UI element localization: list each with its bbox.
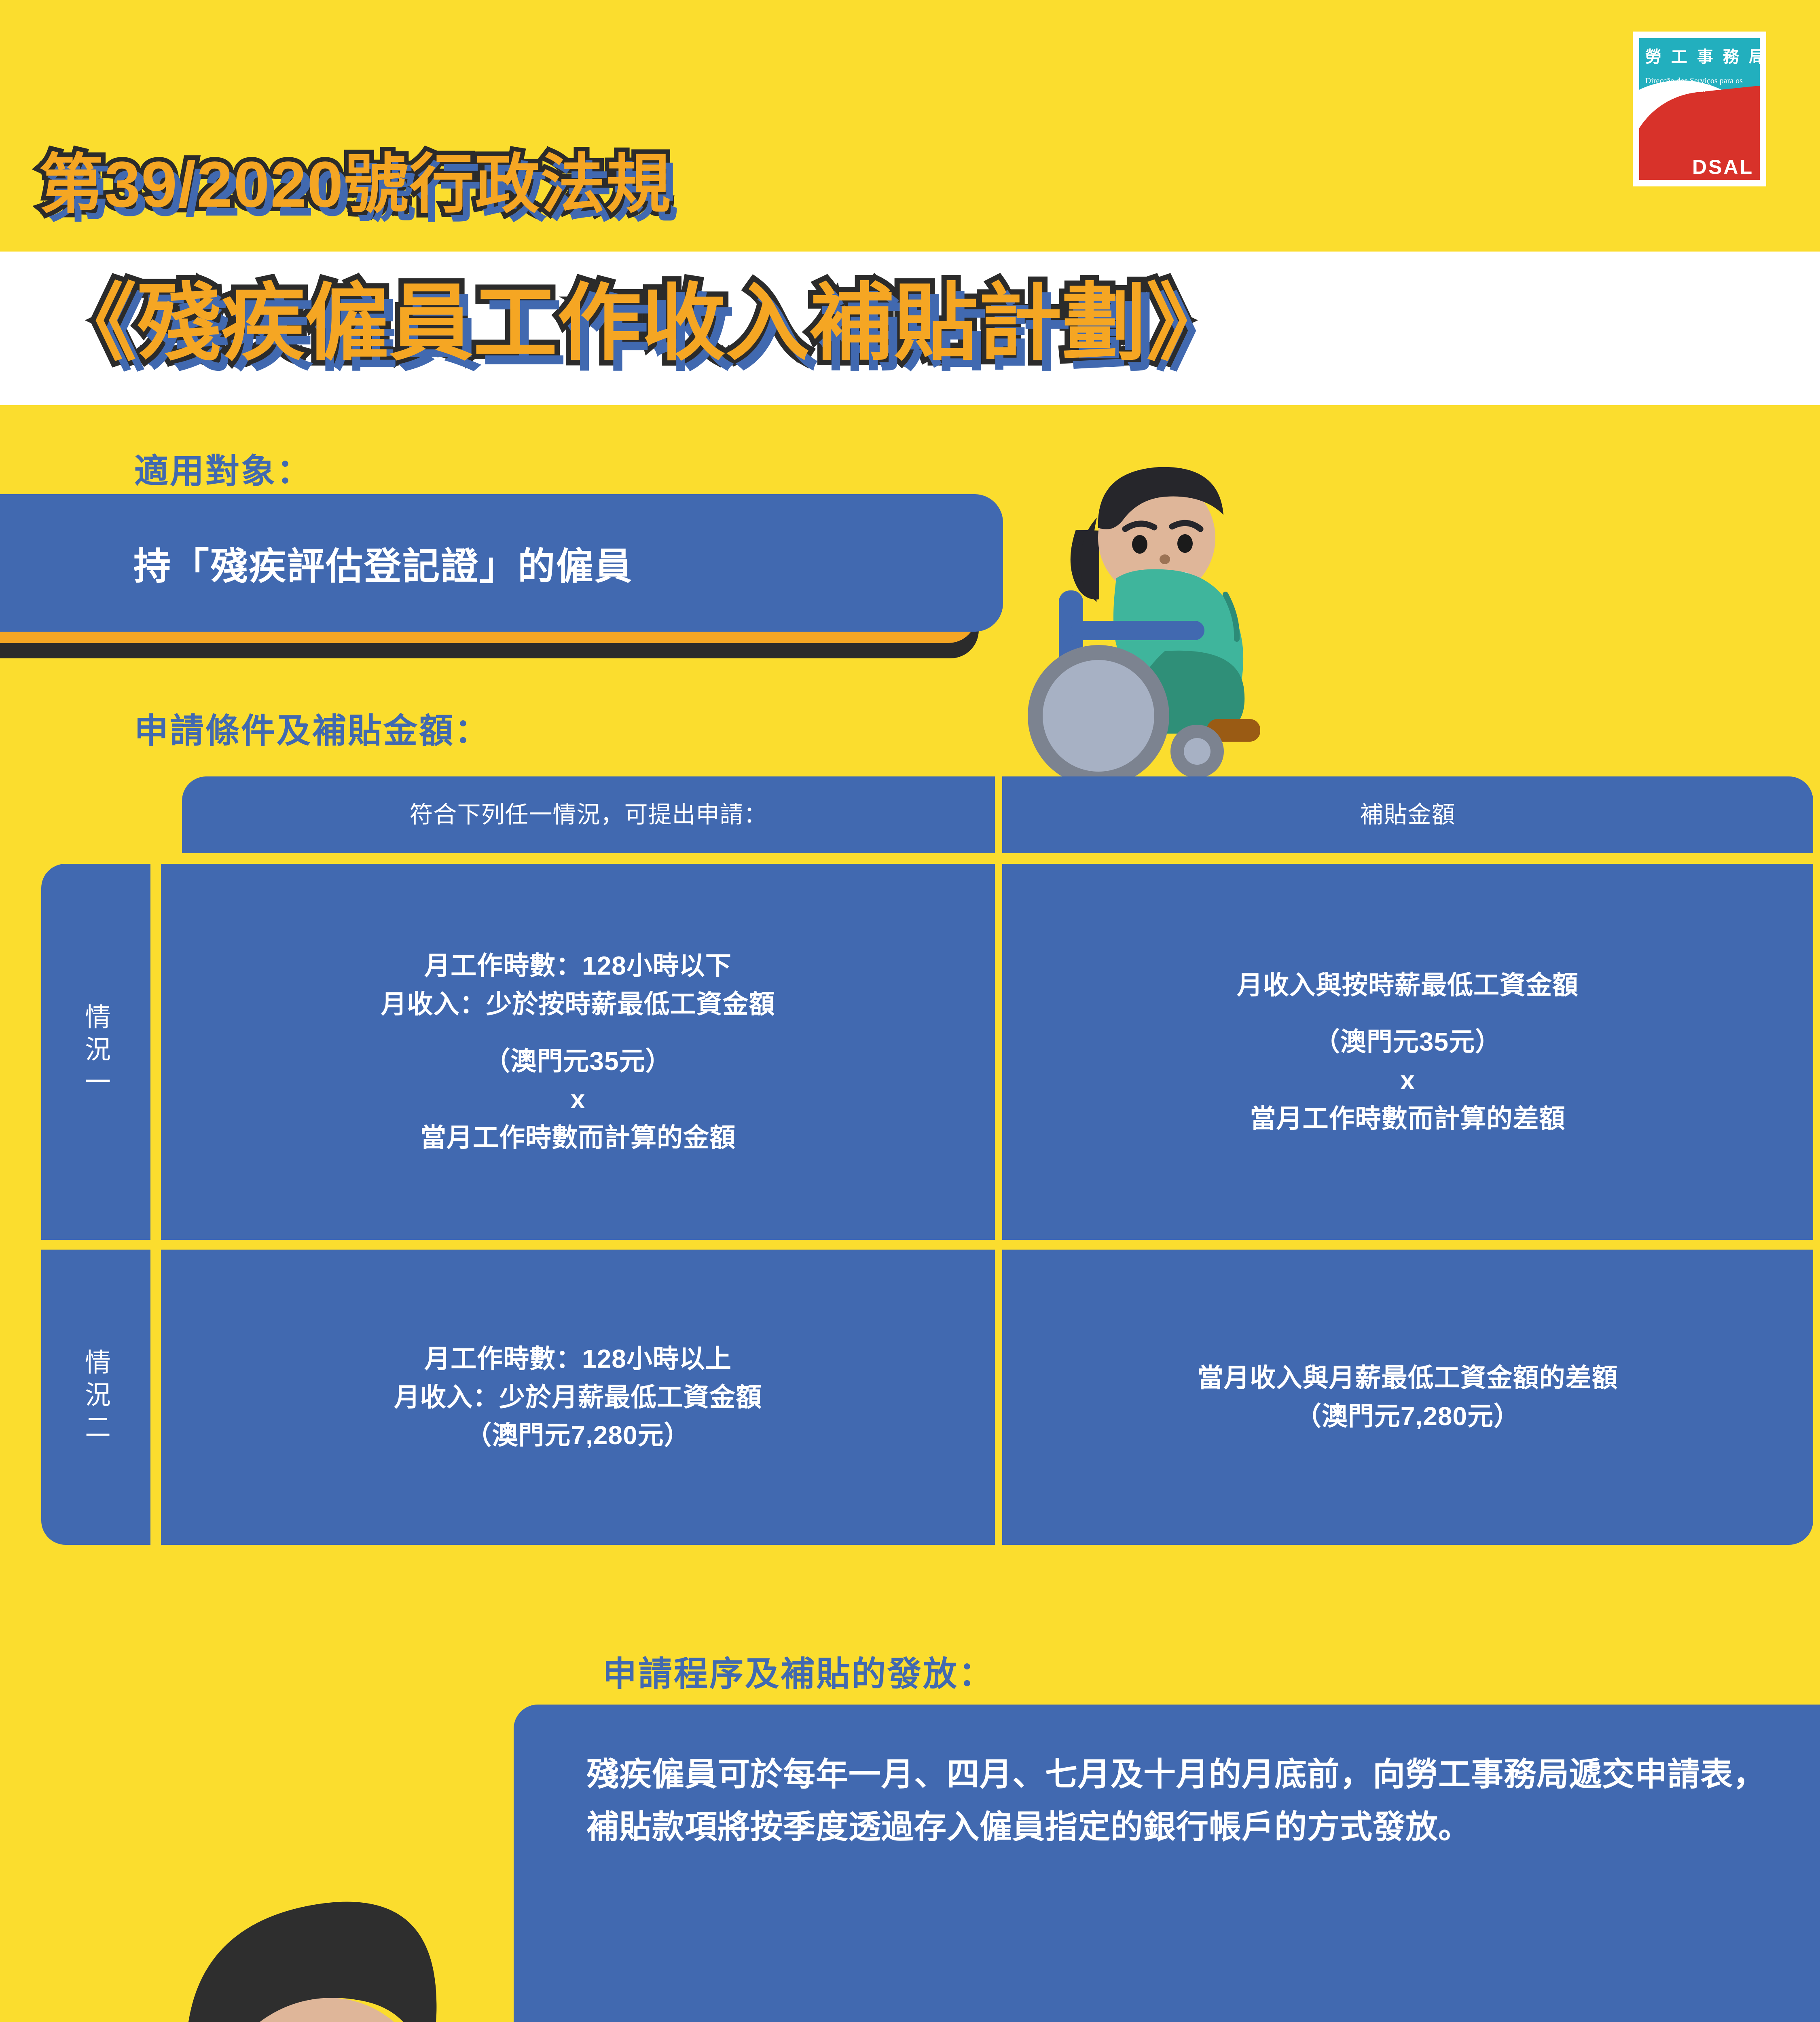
page-title: 《殘疾僱員工作收入補貼計劃》 — [53, 255, 1230, 376]
procedure-panel: 殘疾僱員可於每年一月、四月、七月及十月的月底前，向勞工事務局遞交申請表，補貼款項… — [514, 1705, 1820, 2022]
logo-chinese-name: 勞 工 事 務 局 — [1645, 44, 1756, 67]
logo-acronym: DSAL — [1692, 155, 1754, 179]
table-header-amount-label: 補貼金額 — [1360, 797, 1455, 832]
table-cell-amount-2: 當月收入與月薪最低工資金額的差額 （澳門元7,280元） — [1002, 1250, 1813, 1545]
condition-line: 月工作時數：128小時以上 — [424, 1340, 732, 1378]
amount-line: 月收入與按時薪最低工資金額 — [1237, 966, 1579, 1005]
amount-line: 當月收入與月薪最低工資金額的差額 — [1198, 1359, 1618, 1397]
situation-label-1: 情況一 — [41, 864, 150, 1240]
amount-line: （澳門元7,280元） — [1295, 1397, 1520, 1436]
condition-line: x — [571, 1080, 586, 1119]
regulation-number-heading: 第39/2020號行政法規 — [39, 132, 671, 226]
condition-line: 當月工作時數而計算的金額 — [420, 1119, 736, 1157]
amount-line: （澳門元35元） — [1314, 1023, 1501, 1061]
dsal-logo: 勞 工 事 務 局 Direcção dos Serviços para os … — [1633, 32, 1766, 186]
procedure-text: 殘疾僱員可於每年一月、四月、七月及十月的月底前，向勞工事務局遞交申請表，補貼款項… — [586, 1748, 1796, 1853]
condition-line: 月收入：少於月薪最低工資金額 — [394, 1378, 762, 1417]
logo-inner: 勞 工 事 務 局 Direcção dos Serviços para os … — [1639, 38, 1760, 180]
table-row: 情況二 — [41, 1250, 150, 1545]
criteria-table: 符合下列任一情況，可提出申請： 補貼金額 情況一 月工作時數：128小時以下 月… — [0, 776, 1820, 1561]
target-banner: 持「殘疾評估登記證」的僱員 — [0, 494, 1003, 632]
criteria-section-label: 申請條件及補貼金額： — [134, 704, 490, 753]
table-header-condition: 符合下列任一情況，可提出申請： — [182, 776, 995, 853]
table-header-amount: 補貼金額 — [1002, 776, 1813, 853]
table-cell-condition-1: 月工作時數：128小時以下 月收入：少於按時薪最低工資金額 （澳門元35元） x… — [161, 864, 995, 1240]
infographic-page: 勞 工 事 務 局 Direcção dos Serviços para os … — [0, 0, 1820, 2022]
table-cell-amount-1: 月收入與按時薪最低工資金額 （澳門元35元） x 當月工作時數而計算的差額 — [1002, 864, 1813, 1240]
logo-portuguese-name: Direcção dos Serviços para os Assuntos L… — [1645, 76, 1751, 95]
condition-line: 月收入：少於按時薪最低工資金額 — [381, 985, 775, 1024]
procedure-section-label: 申請程序及補貼的發放： — [603, 1647, 994, 1696]
table-row: 情況一 — [41, 864, 150, 1240]
blind-person-illustration — [24, 1844, 688, 2022]
table-header-condition-label: 符合下列任一情況，可提出申請： — [409, 797, 767, 832]
amount-line: 當月工作時數而計算的差額 — [1250, 1100, 1566, 1138]
target-banner-text: 持「殘疾評估登記證」的僱員 — [133, 536, 633, 590]
condition-line: （澳門元7,280元） — [466, 1416, 690, 1455]
wheelchair-user-illustration — [1007, 457, 1323, 793]
target-section-label: 適用對象： — [134, 444, 312, 493]
condition-line: 月工作時數：128小時以下 — [424, 947, 732, 985]
table-cell-condition-2: 月工作時數：128小時以上 月收入：少於月薪最低工資金額 （澳門元7,280元） — [161, 1250, 995, 1545]
situation-label-2: 情況二 — [41, 1250, 150, 1545]
amount-line: x — [1400, 1061, 1415, 1100]
condition-line: （澳門元35元） — [484, 1042, 671, 1081]
